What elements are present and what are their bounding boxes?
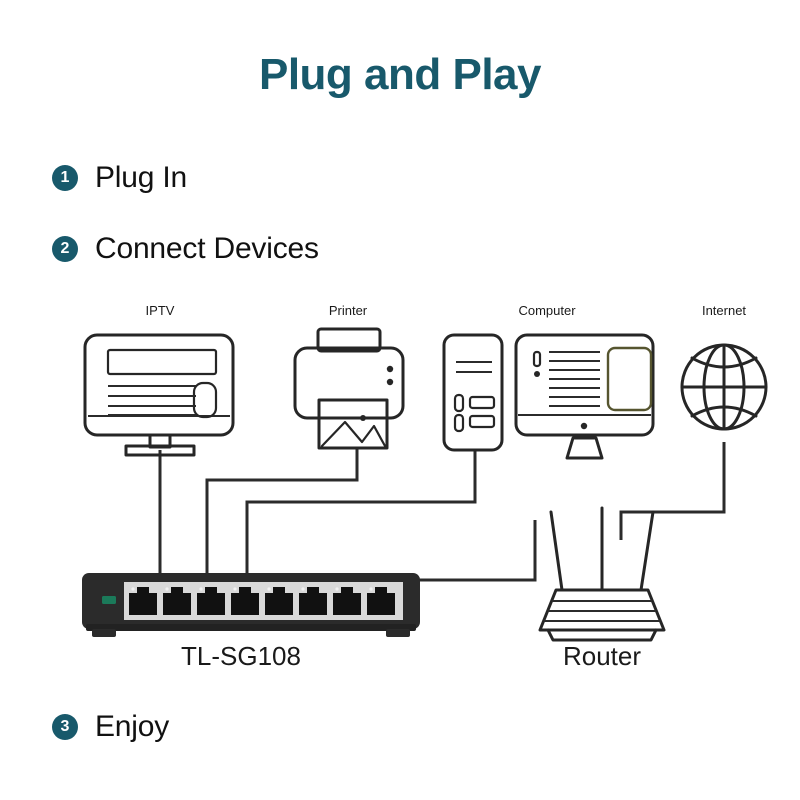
cable-router-to-switch bbox=[285, 520, 535, 580]
monitor-icon bbox=[516, 335, 653, 458]
switch-status-led bbox=[102, 596, 116, 604]
cable-group bbox=[160, 442, 724, 580]
step-number-badge: 1 bbox=[52, 165, 78, 191]
device-label-iptv: IPTV bbox=[146, 303, 175, 318]
step-label: Connect Devices bbox=[95, 232, 319, 266]
port-led bbox=[233, 587, 236, 590]
port-led bbox=[335, 587, 338, 590]
monitor-indicator-dot bbox=[534, 371, 540, 377]
port-led bbox=[165, 587, 168, 590]
port-led bbox=[369, 587, 372, 590]
switch-foot-left bbox=[92, 629, 116, 637]
port-led bbox=[301, 587, 304, 590]
equipment-label-router: Router bbox=[563, 641, 641, 671]
globe-icon bbox=[682, 345, 766, 429]
cable-printer bbox=[207, 448, 357, 574]
switch-body-shadow bbox=[86, 624, 416, 631]
step-label: Enjoy bbox=[95, 710, 169, 744]
computer-tower-icon bbox=[444, 335, 502, 450]
printer-indicator-dot bbox=[387, 379, 393, 385]
monitor-power-dot bbox=[581, 423, 587, 429]
switch-foot-right bbox=[386, 629, 410, 637]
network-switch-icon bbox=[82, 573, 420, 637]
printer-indicator-dot bbox=[387, 366, 393, 372]
wifi-router-icon bbox=[540, 508, 664, 640]
device-label-computer: Computer bbox=[518, 303, 576, 318]
network-topology-diagram: IPTV Printer Computer Internet bbox=[0, 290, 800, 680]
page-title: Plug and Play bbox=[0, 50, 800, 100]
step-number-badge: 3 bbox=[52, 714, 78, 740]
step-item-plug-in: 1 Plug In bbox=[52, 161, 187, 195]
step-number-badge: 2 bbox=[52, 236, 78, 262]
device-label-internet: Internet bbox=[702, 303, 746, 318]
equipment-label-switch: TL-SG108 bbox=[181, 641, 301, 671]
step-label: Plug In bbox=[95, 161, 187, 195]
printer-icon bbox=[295, 329, 403, 448]
step-item-connect-devices: 2 Connect Devices bbox=[52, 232, 319, 266]
cable-computer bbox=[247, 450, 475, 574]
tv-icon bbox=[85, 335, 233, 455]
port-led bbox=[131, 587, 134, 590]
printer-image-sun-dot bbox=[360, 415, 366, 421]
port-led bbox=[199, 587, 202, 590]
port-led bbox=[267, 587, 270, 590]
cable-internet-to-router bbox=[621, 442, 724, 540]
plug-and-play-page: Plug and Play 1 Plug In 2 Connect Device… bbox=[0, 0, 800, 800]
device-label-printer: Printer bbox=[329, 303, 368, 318]
step-item-enjoy: 3 Enjoy bbox=[52, 710, 169, 744]
